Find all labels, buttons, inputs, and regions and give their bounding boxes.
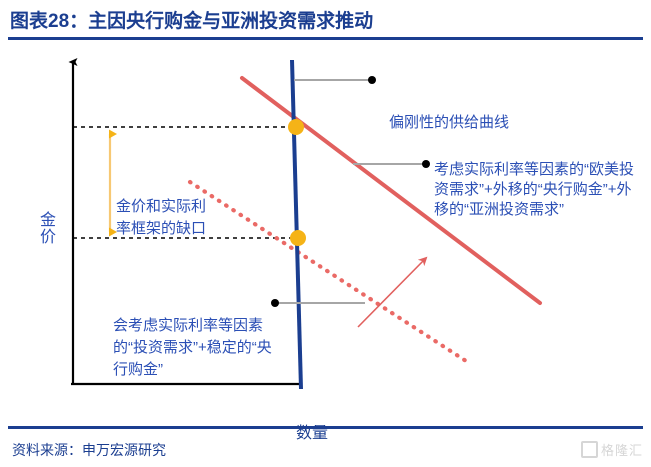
source-label: 资料来源：申万宏源研究 [12, 440, 166, 460]
demand-shifted-annotation: 考虑实际利率等因素的“欧美投资需求”+外移的“央行购金”+外移的“亚洲投资需求” [434, 160, 642, 219]
price-gap-annotation: 金价和实际利率框架的缺口 [116, 196, 206, 240]
y-axis-label: 金价 [38, 212, 58, 247]
demand-original-callout-dot [271, 299, 279, 307]
x-axis-label: 数量 [296, 419, 328, 443]
watermark-text: 格隆汇 [601, 440, 643, 459]
supply-curve-annotation: 偏刚性的供给曲线 [389, 113, 509, 133]
equilibrium-marker-high [288, 119, 304, 135]
watermark-box-icon [581, 441, 598, 458]
watermark-logo: 格隆汇 [581, 440, 643, 459]
demand-shifted-callout-dot [422, 160, 430, 168]
page-title: 图表28：主因央行购金与亚洲投资需求推动 [10, 6, 373, 33]
footer-divider [8, 426, 643, 429]
supply-demand-diagram [0, 44, 651, 422]
demand-original-annotation: 会考虑实际利率等因素的“投资需求”+稳定的“央行购金” [113, 315, 273, 380]
chart-plot-area: 金价 数量 偏刚性的供给曲线 考虑实际利率等因素的“欧美投资需求”+外移的“央行… [0, 44, 651, 422]
demand-shift-arrow [358, 258, 426, 327]
equilibrium-marker-low [290, 230, 306, 246]
supply-callout-dot [368, 76, 376, 84]
chart-figure-page: 图表28：主因央行购金与亚洲投资需求推动 [0, 0, 651, 467]
header-divider [8, 37, 643, 40]
supply-curve [292, 60, 301, 389]
